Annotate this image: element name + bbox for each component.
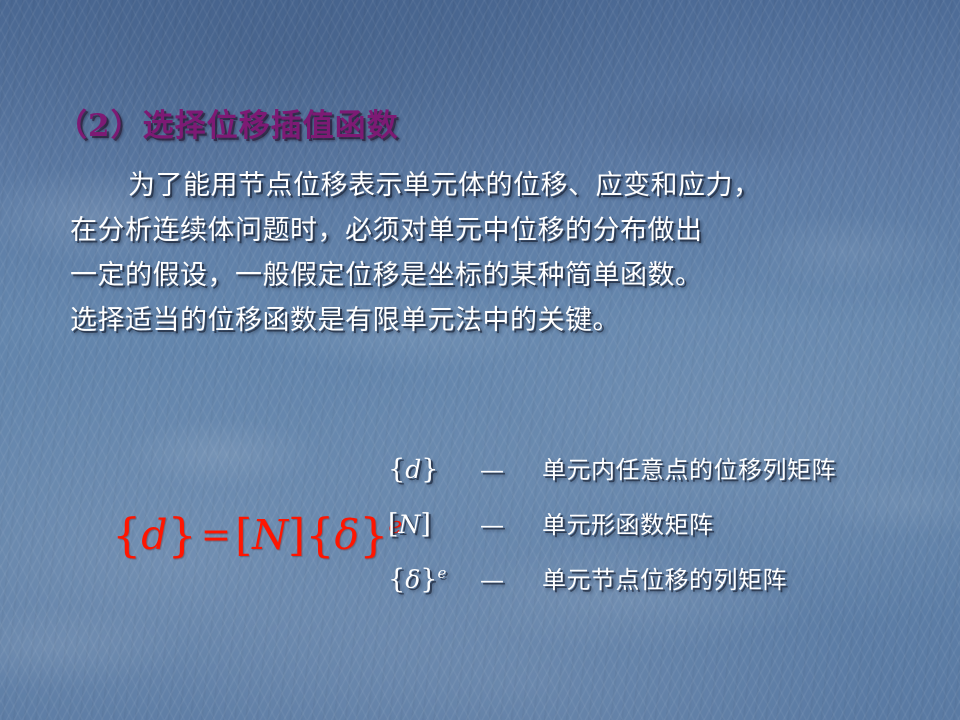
equation-n-variable: N [252, 511, 288, 559]
legend-close-brace: } [420, 564, 437, 595]
legend-open-brace: { [388, 564, 405, 595]
legend-open-bracket: [ [388, 509, 399, 540]
displacement-equation: {d}=[N]{δ}e [112, 508, 402, 562]
list-item: {d} — 单元内任意点的位移列矩阵 [388, 450, 836, 505]
legend-description: 单元内任意点的位移列矩阵 [542, 450, 836, 485]
legend-em-dash: — [480, 566, 542, 594]
body-line: 选择适当的位移函数是有限单元法中的关键。 [70, 298, 900, 343]
legend-description: 单元节点位移的列矩阵 [542, 560, 787, 595]
equation-n-open-bracket: [ [235, 510, 252, 561]
equation-delta-variable: δ [334, 511, 359, 559]
legend-variable: N [399, 510, 421, 539]
equation-delta-open-brace: { [305, 508, 334, 562]
page-title: （2）选择位移插值函数 [56, 100, 399, 145]
legend-close-brace: } [421, 454, 438, 485]
equation-lhs-open-brace: { [112, 508, 141, 562]
equation-lhs-variable: d [141, 511, 167, 559]
legend-symbol: [N] [388, 509, 480, 540]
legend-superscript: e [437, 564, 446, 582]
legend-symbol: {δ}e [388, 564, 480, 595]
list-item: {δ}e — 单元节点位移的列矩阵 [388, 560, 836, 615]
legend-close-bracket: ] [420, 509, 431, 540]
legend-em-dash: — [480, 511, 542, 539]
body-paragraph: 为了能用节点位移表示单元体的位移、应变和应力， 在分析连续体问题时，必须对单元中… [70, 163, 900, 343]
slide-content: （2）选择位移插值函数 为了能用节点位移表示单元体的位移、应变和应力， 在分析连… [0, 0, 960, 720]
equation-equals-sign: = [197, 515, 235, 556]
legend-symbol: {d} [388, 454, 480, 485]
body-line: 一定的假设，一般假定位移是坐标的某种简单函数。 [70, 253, 900, 298]
slide-canvas: （2）选择位移插值函数 为了能用节点位移表示单元体的位移、应变和应力， 在分析连… [0, 0, 960, 720]
legend-variable: d [405, 455, 421, 484]
equation-lhs-close-brace: } [168, 508, 197, 562]
symbol-legend-list: {d} — 单元内任意点的位移列矩阵 [N] — 单元形函数矩阵 {δ}e — … [388, 450, 836, 615]
equation-delta-close-brace: } [359, 508, 388, 562]
legend-open-brace: { [388, 454, 405, 485]
legend-variable: δ [405, 565, 420, 594]
equation-n-close-bracket: ] [288, 510, 305, 561]
legend-description: 单元形函数矩阵 [542, 505, 714, 540]
list-item: [N] — 单元形函数矩阵 [388, 505, 836, 560]
legend-em-dash: — [480, 456, 542, 484]
body-line: 在分析连续体问题时，必须对单元中位移的分布做出 [70, 208, 900, 253]
body-line: 为了能用节点位移表示单元体的位移、应变和应力， [70, 163, 900, 208]
